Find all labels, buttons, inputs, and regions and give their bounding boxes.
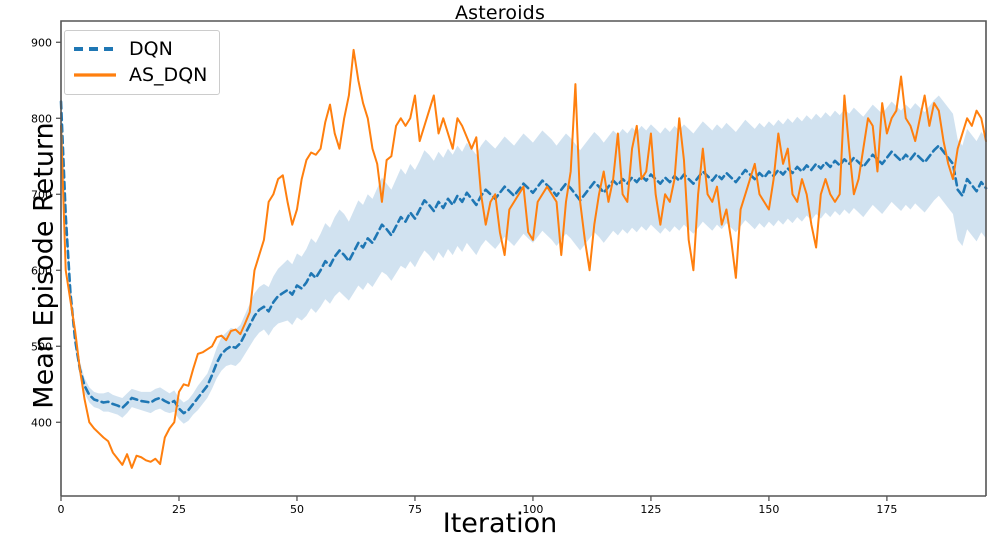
x-tick-label: 175 [876, 503, 897, 516]
x-tick-label: 50 [290, 503, 304, 516]
legend: DQN AS_DQN [64, 30, 220, 95]
legend-swatch-as-dqn [73, 68, 117, 82]
legend-item-as-dqn[interactable]: AS_DQN [73, 62, 207, 88]
legend-swatch-dqn [73, 42, 117, 56]
x-tick-label: 150 [758, 503, 779, 516]
x-tick-label: 125 [640, 503, 661, 516]
legend-item-dqn[interactable]: DQN [73, 36, 207, 62]
legend-label-dqn: DQN [129, 38, 173, 60]
x-tick-label: 25 [172, 503, 186, 516]
y-tick-label: 900 [31, 36, 52, 49]
y-tick-label: 800 [31, 112, 52, 125]
legend-label-as-dqn: AS_DQN [129, 64, 207, 86]
x-tick-label: 75 [408, 503, 422, 516]
y-tick-label: 700 [31, 188, 52, 201]
y-tick-label: 400 [31, 416, 52, 429]
chart-figure: Asteroids Mean Episode Return Iteration … [0, 0, 1000, 541]
y-tick-label: 600 [31, 264, 52, 277]
dqn-confidence-band [61, 95, 986, 423]
x-tick-label: 0 [58, 503, 65, 516]
x-tick-label: 100 [522, 503, 543, 516]
y-tick-label: 500 [31, 340, 52, 353]
